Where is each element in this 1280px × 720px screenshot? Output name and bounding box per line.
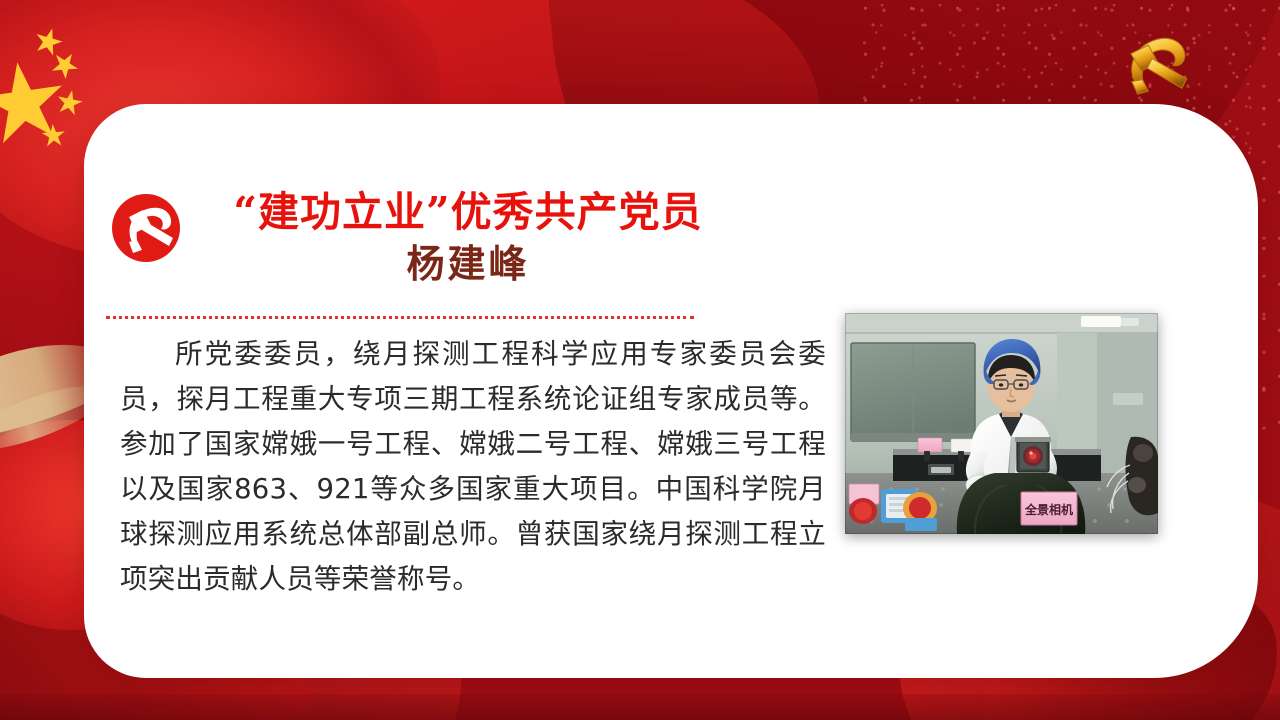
biography-paragraph: 所党委委员，绕月探测工程科学应用专家委员会委员，探月工程重大专项三期工程系统论证… (120, 332, 826, 602)
bottom-shadow-strip (0, 694, 1280, 720)
card-header: “建功立业”优秀共产党员 杨建峰 (102, 190, 802, 287)
cleanroom-photo-illustration: 全景相机 (845, 313, 1158, 534)
engineer-photo: 全景相机 (845, 313, 1158, 534)
five-point-star-icon (32, 25, 65, 58)
person-name: 杨建峰 (198, 240, 738, 288)
party-emblem-icon (110, 192, 182, 264)
dotted-divider (106, 316, 694, 319)
party-emblem-gold-icon (1106, 24, 1202, 104)
photo-sign-label: 全景相机 (1024, 502, 1073, 517)
page-title: “建功立业”优秀共产党员 (198, 190, 738, 236)
five-point-star-icon (55, 88, 85, 118)
title-block: “建功立业”优秀共产党员 杨建峰 (198, 190, 738, 287)
slide-canvas: “建功立业”优秀共产党员 杨建峰 所党委委员，绕月探测工程科学应用专家委员会委员… (0, 0, 1280, 720)
content-card: “建功立业”优秀共产党员 杨建峰 所党委委员，绕月探测工程科学应用专家委员会委员… (84, 104, 1258, 678)
